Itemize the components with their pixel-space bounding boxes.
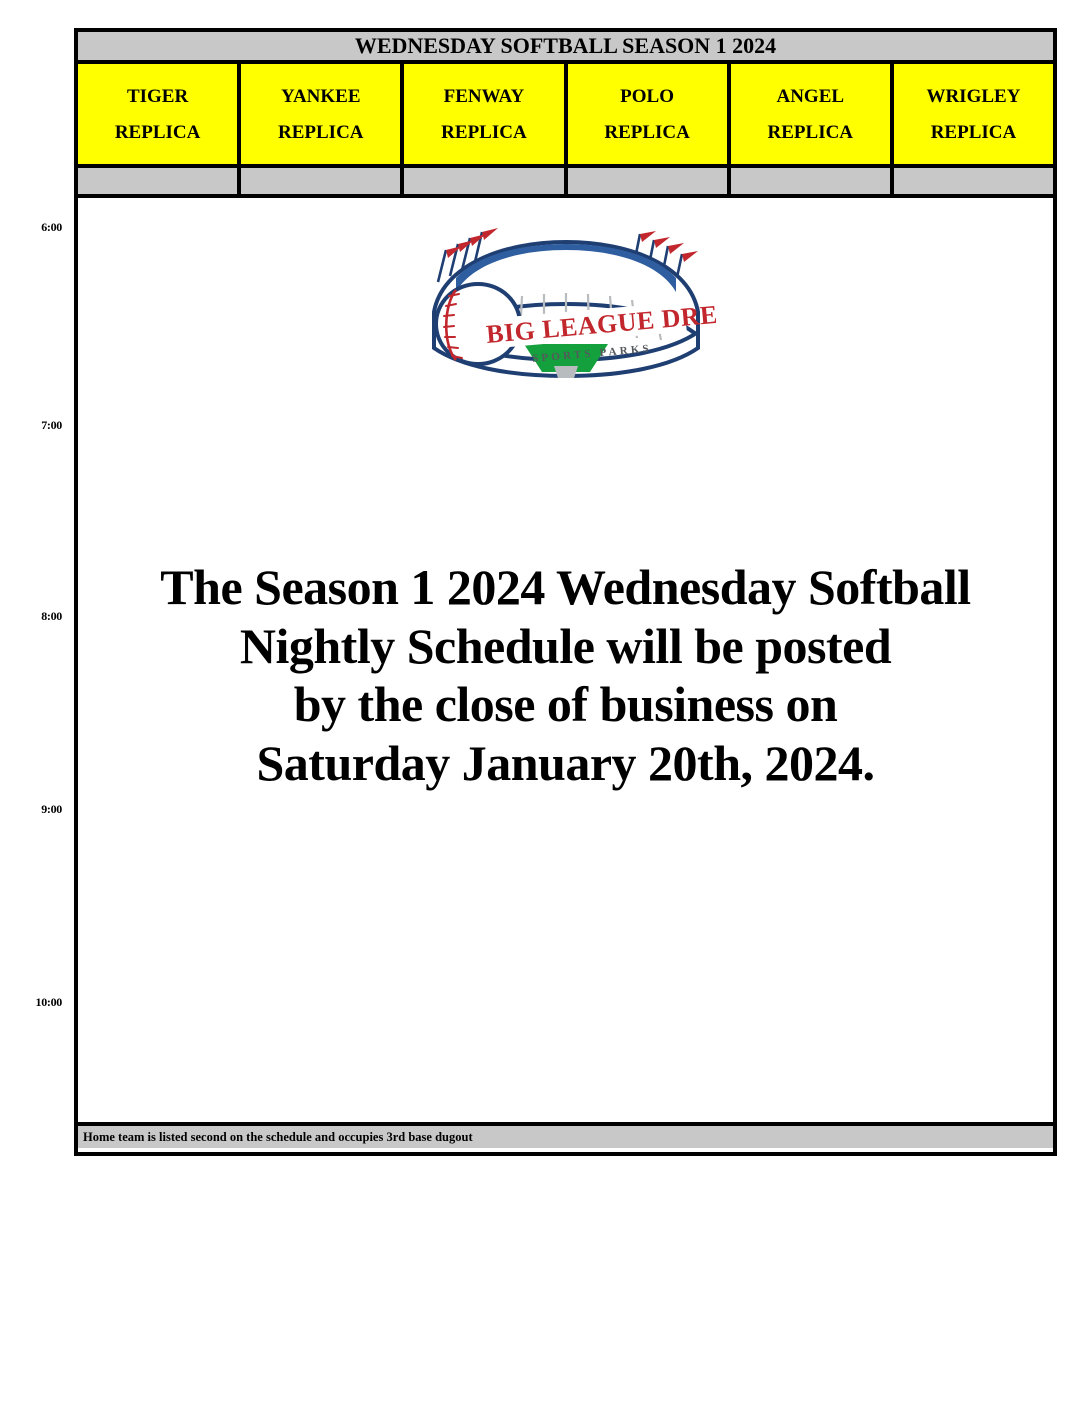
field-column-tiger[interactable]: TIGER REPLICA: [78, 64, 241, 164]
field-header-row: TIGER REPLICA YANKEE REPLICA FENWAY REPL…: [78, 64, 1053, 164]
field-column-polo[interactable]: POLO REPLICA: [568, 64, 731, 164]
schedule-grid-body: BIG LEAGUE DREAMS SPORTS PARKS The Seaso…: [78, 198, 1053, 1122]
field-sub-label: REPLICA: [931, 123, 1017, 142]
logo-container: BIG LEAGUE DREAMS SPORTS PARKS: [78, 220, 1053, 380]
time-label-7: 7:00: [41, 418, 62, 433]
announcement-line-1: The Season 1 2024 Wednesday Softball: [86, 558, 1045, 617]
big-league-dreams-logo: BIG LEAGUE DREAMS SPORTS PARKS: [416, 220, 716, 380]
home-team-note: Home team is listed second on the schedu…: [78, 1130, 473, 1145]
announcement-line-3: by the close of business on: [86, 675, 1045, 734]
subheader-cell-yankee: [241, 168, 404, 194]
field-name-label: FENWAY: [444, 87, 525, 106]
subheader-cell-fenway: [404, 168, 567, 194]
subheader-cell-angel: [731, 168, 894, 194]
announcement-message: The Season 1 2024 Wednesday Softball Nig…: [78, 558, 1053, 792]
board-title-row: WEDNESDAY SOFTBALL SEASON 1 2024: [78, 32, 1053, 64]
subheader-cell-polo: [568, 168, 731, 194]
field-column-wrigley[interactable]: WRIGLEY REPLICA: [894, 64, 1053, 164]
subheader-cell-wrigley: [894, 168, 1053, 194]
time-label-10: 10:00: [36, 995, 63, 1010]
field-column-fenway[interactable]: FENWAY REPLICA: [404, 64, 567, 164]
field-sub-label: REPLICA: [768, 123, 854, 142]
field-column-angel[interactable]: ANGEL REPLICA: [731, 64, 894, 164]
field-sub-label: REPLICA: [441, 123, 527, 142]
time-label-8: 8:00: [41, 609, 62, 624]
subheader-cell-tiger: [78, 168, 241, 194]
footer-note-row: Home team is listed second on the schedu…: [78, 1122, 1053, 1148]
field-name-label: TIGER: [127, 87, 188, 106]
page-title: WEDNESDAY SOFTBALL SEASON 1 2024: [355, 33, 776, 59]
schedule-board: WEDNESDAY SOFTBALL SEASON 1 2024 TIGER R…: [74, 28, 1057, 1156]
time-label-9: 9:00: [41, 802, 62, 817]
field-sub-label: REPLICA: [604, 123, 690, 142]
field-name-label: ANGEL: [776, 87, 844, 106]
field-name-label: POLO: [620, 87, 674, 106]
time-gutter: 6:00 7:00 8:00 9:00 10:00: [0, 190, 74, 1130]
field-name-label: WRIGLEY: [926, 87, 1020, 106]
announcement-line-4: Saturday January 20th, 2024.: [86, 734, 1045, 793]
field-column-yankee[interactable]: YANKEE REPLICA: [241, 64, 404, 164]
field-sub-label: REPLICA: [115, 123, 201, 142]
announcement-line-2: Nightly Schedule will be posted: [86, 617, 1045, 676]
field-name-label: YANKEE: [281, 87, 361, 106]
field-subheader-row: [78, 164, 1053, 198]
time-label-6: 6:00: [41, 220, 62, 235]
field-sub-label: REPLICA: [278, 123, 364, 142]
